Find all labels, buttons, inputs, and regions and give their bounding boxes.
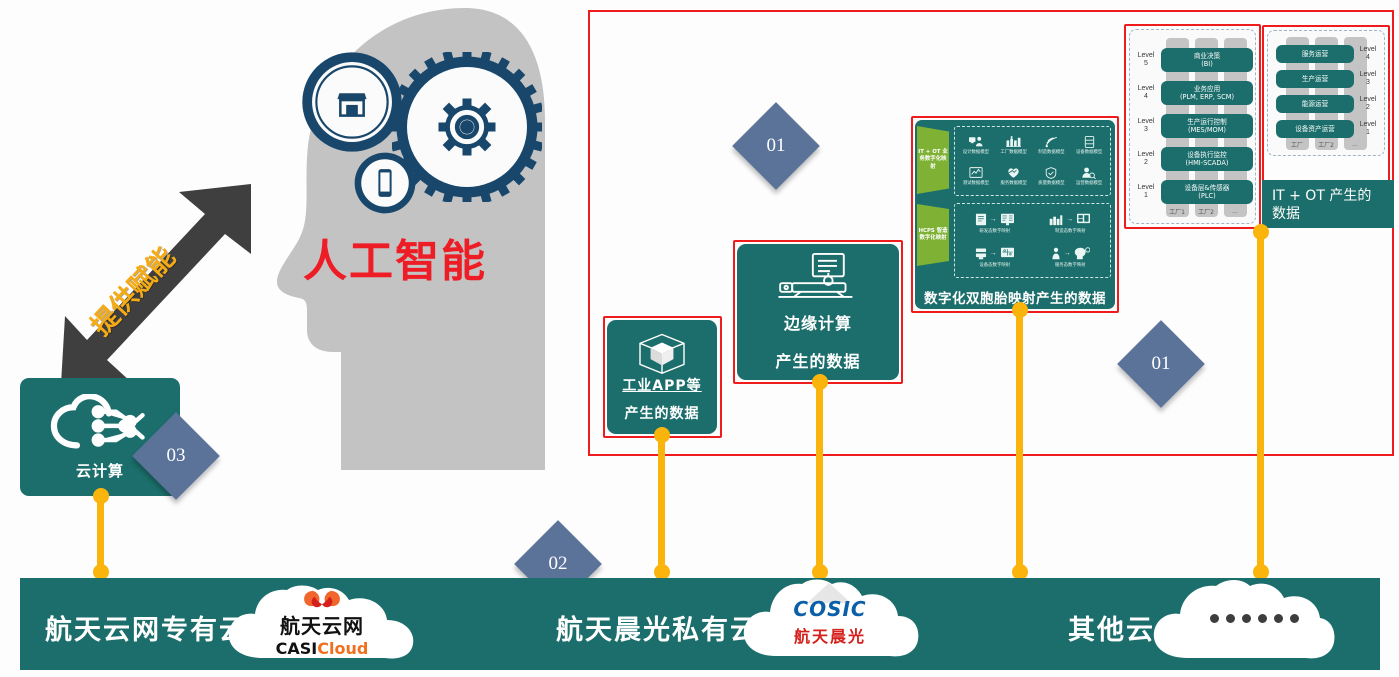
factory-tab[interactable]: 工厂 [1286,139,1309,150]
level-number: 3 [1366,79,1370,86]
level-tag: Level 2 [1357,96,1379,111]
level-word: Level [1138,151,1155,158]
connector-cloud-computing [97,492,104,572]
level-number: 4 [1366,54,1370,61]
level-pill[interactable]: 生产运营 [1276,70,1354,88]
twin-model-label: 服务数据模型 [1000,180,1026,186]
factory-tab[interactable]: 工厂2 [1315,139,1338,150]
level-tag: Level 4 [1357,46,1379,61]
store-gear-icon [298,48,406,156]
level-tag: Level 3 [1357,71,1379,86]
twin-model-cell: 服务数据模型 [995,161,1033,192]
edge-computing-title: 边缘计算 [784,310,852,334]
badge-03[interactable]: 03 [132,412,220,500]
level-title: 设备层&传感器 [1185,184,1230,192]
connector-dot [1012,302,1028,318]
level-pill[interactable]: 设备执行监控 (HMI-SCADA) [1161,147,1253,171]
twin-model-label: 制造数据模型 [1038,149,1064,155]
level-word: Level [1360,96,1377,103]
level-pill[interactable]: 业务应用 (PLM, ERP, SCM) [1161,81,1253,105]
twin-mapping-cell: → 研发态数字映射 [957,207,1033,241]
level-word: Level [1138,184,1155,191]
twin-model-label: 设计数据模型 [963,149,989,155]
factory-tab[interactable]: 工厂1 [1166,206,1189,217]
twin-model-cell: 制造数据模型 [1033,130,1071,161]
design-model-icon [969,136,983,147]
level-tag: Level 2 [1135,151,1157,166]
twin-mapping-label: 服务态数字映射 [1055,262,1086,268]
level-title: 设备资产运营 [1295,125,1335,133]
twin-model-label: 运营数据模型 [1076,180,1102,186]
twin-model-cell: 设备数据模型 [1070,130,1108,161]
cosic-logo-en: COSIC [793,597,866,621]
twin-model-label: 测试数据模型 [963,180,989,186]
level-title: 能源运营 [1302,100,1328,108]
ellipsis-dots-icon [1210,614,1299,623]
level-pill[interactable]: 服务运营 [1276,45,1354,63]
level-word: Level [1360,46,1377,53]
level-word: Level [1360,121,1377,128]
casicloud-logo-cn: 航天云网 [280,610,364,639]
it-ot-data-card[interactable]: IT + OT 产生的数据 [1262,180,1394,228]
industrial-app-title: 工业APP等 [622,375,701,395]
factory-model-icon [1006,136,1021,147]
level-number: 1 [1366,129,1370,136]
connector-dot [654,427,670,443]
twin-mapping-cell: → 设备态数字映射 [957,241,1033,275]
casicloud-logo: 航天云网 CASICloud [252,588,392,658]
twin-model-cell: 设计数据模型 [957,130,995,161]
mobile-gear-icon [352,150,418,216]
level-title: 生产运行控制 [1187,118,1227,126]
twin-mapping-cell: → 制造态数字映射 [1033,207,1109,241]
cloud-label-cosic: 航天晨光私有云 [556,608,759,647]
level-word: Level [1360,71,1377,78]
digital-twin-panel[interactable]: IT + OT 业务数字化映射 HCPS 智造数字化映射 设计数据模型 工厂数据… [915,120,1115,309]
badge-03-number: 03 [145,425,207,487]
operation-model-icon [1082,167,1096,179]
level-number: 3 [1144,126,1148,133]
level-number: 5 [1144,60,1148,67]
level-word: Level [1138,85,1155,92]
twin-mapping-label: 设备态数字映射 [979,262,1010,268]
service-mapping-icon [1051,247,1061,260]
connector-dot [1253,224,1269,240]
digital-twin-mappings-group: → 研发态数字映射 → 制造态数字映射 → [954,203,1111,278]
twin-model-cell: 工厂数据模型 [995,130,1033,161]
level-sub: (PLM, ERP, SCM) [1180,93,1234,101]
twin-mapping-label: 制造态数字映射 [1055,228,1086,234]
level-sub: (BI) [1201,60,1213,68]
connector-digital-twin [1016,306,1023,573]
cosic-logo-cn: 航天晨光 [794,623,866,647]
it-ot-stack-right[interactable]: 服务运营 Level 4 生产运营 Level 3 能源运营 Level 2 [1267,30,1385,156]
cloud-label-casicloud: 航天云网专有云 [45,608,248,647]
screen-dashboard-icon [1076,213,1091,226]
level-tag: Level 5 [1135,52,1157,67]
level-number: 1 [1144,192,1148,199]
factory-tab[interactable]: ... [1344,139,1367,150]
level-pill[interactable]: 设备资产运营 [1276,120,1354,138]
diagram-canvas: 人工智能 提供赋能 云计算 03 01 01 02 [0,0,1399,677]
level-number: 2 [1366,104,1370,111]
equipment-model-icon [1084,136,1095,148]
industrial-app-subtitle: 产生的数据 [625,403,700,423]
level-title: 生产运营 [1302,75,1328,83]
level-word: Level [1138,52,1155,59]
cloud-circuit-icon [45,394,155,456]
level-tag: Level 3 [1135,118,1157,133]
cloud-computing-label: 云计算 [76,460,124,481]
digital-twin-tag-hcps: HCPS 智造数字化映射 [917,204,949,266]
quality-model-icon [1045,167,1057,179]
level-tag: Level 1 [1135,184,1157,199]
level-tag: Level 1 [1357,121,1379,136]
factory-tab[interactable]: 工厂2 [1195,206,1218,217]
cloud-label-other: 其他云 [1068,608,1155,647]
twin-model-cell: 质量数据模型 [1033,161,1071,192]
twin-model-label: 质量数据模型 [1038,180,1064,186]
twin-mapping-label: 研发态数字映射 [979,228,1010,234]
twin-model-label: 设备数据模型 [1076,149,1102,155]
connector-edge-computing [816,378,823,573]
service-model-icon [1007,167,1020,179]
level-number: 2 [1144,159,1148,166]
level-title: 商业决策 [1194,52,1220,60]
connector-industrial-app [658,431,665,573]
cosic-logo: COSIC 航天晨光 [765,590,895,654]
manufacture-model-icon [1045,136,1058,148]
level-sub: (MES/MOM) [1188,126,1226,134]
digital-twin-models-group: 设计数据模型 工厂数据模型 制造数据模型 设备数据模型 测试数据模型 [954,126,1111,196]
edge-computing-card[interactable]: 边缘计算 产生的数据 [737,244,899,380]
connector-dot [93,488,109,504]
level-number: 4 [1144,93,1148,100]
twin-model-cell: 测试数据模型 [957,161,995,192]
industrial-app-card[interactable]: 工业APP等 产生的数据 [607,320,717,434]
level-pill[interactable]: 生产运行控制 (MES/MOM) [1161,114,1253,138]
digital-twin-tag-itot: IT + OT 业务数字化映射 [917,126,949,194]
casicloud-logo-en1: CASI [276,639,318,658]
level-title: 设备执行监控 [1187,151,1227,159]
level-tag: Level 4 [1135,85,1157,100]
page-title: 人工智能 [280,240,510,284]
level-title: 业务应用 [1194,85,1220,93]
workstation-icon [775,252,861,304]
screen-grid-icon [1000,247,1015,260]
screen-icon [1000,213,1015,226]
device-mapping-icon [975,247,987,260]
level-title: 服务运营 [1302,50,1328,58]
connector-dot [812,374,828,390]
twin-model-cell: 运营数据模型 [1070,161,1108,192]
connector-it-ot [1257,228,1264,573]
level-word: Level [1138,118,1155,125]
rnd-mapping-icon [975,213,987,226]
it-ot-stack-left[interactable]: Level 5 商业决策 (BI) Level 4 业务应用 (PLM, ERP… [1129,29,1256,224]
cube-3d-icon [635,331,689,375]
head-ai-icon [1074,247,1090,260]
twin-mapping-cell: → 服务态数字映射 [1033,241,1109,275]
manufacturing-mapping-icon [1049,213,1063,226]
level-pill[interactable]: 设备层&传感器 (PLC) [1161,180,1253,204]
twin-model-label: 工厂数据模型 [1000,149,1026,155]
casicloud-flower-icon [287,588,357,610]
edge-computing-subtitle: 产生的数据 [775,348,860,372]
level-sub: (HMI-SCADA) [1186,159,1229,167]
factory-tab[interactable]: ... [1224,206,1247,217]
level-pill[interactable]: 能源运营 [1276,95,1354,113]
casicloud-logo-en2: Cloud [317,639,368,658]
level-sub: (PLC) [1198,192,1215,200]
test-model-icon [969,167,983,178]
level-pill[interactable]: 商业决策 (BI) [1161,48,1253,72]
